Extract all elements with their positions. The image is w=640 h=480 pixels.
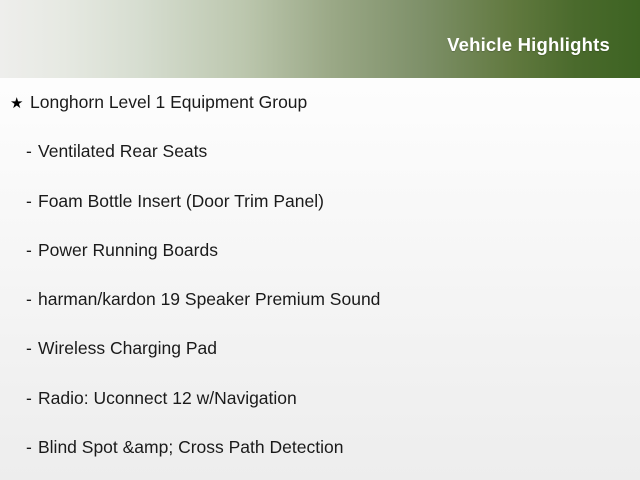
vehicle-highlights-list: ★ Longhorn Level 1 Equipment Group - Ven… — [0, 78, 640, 472]
list-item: - Wireless Charging Pad — [0, 324, 640, 373]
list-item: - Radio: Uconnect 12 w/Navigation — [0, 374, 640, 423]
dash-bullet-icon: - — [26, 275, 38, 324]
dash-bullet-icon: - — [26, 226, 38, 275]
dash-bullet-icon: - — [26, 127, 38, 176]
list-item-label: Radio: Uconnect 12 w/Navigation — [38, 374, 297, 423]
list-item: - Foam Bottle Insert (Door Trim Panel) — [0, 177, 640, 226]
list-item-label: Foam Bottle Insert (Door Trim Panel) — [38, 177, 324, 226]
list-item-label: Ventilated Rear Seats — [38, 127, 207, 176]
list-item: - Blind Spot &amp; Cross Path Detection — [0, 423, 640, 472]
list-item: ★ Longhorn Level 1 Equipment Group — [0, 78, 640, 127]
dash-bullet-icon: - — [26, 374, 38, 423]
star-bullet-icon: ★ — [10, 79, 30, 128]
dash-bullet-icon: - — [26, 177, 38, 226]
dash-bullet-icon: - — [26, 423, 38, 472]
list-item: - harman/kardon 19 Speaker Premium Sound — [0, 275, 640, 324]
list-item-label: harman/kardon 19 Speaker Premium Sound — [38, 275, 380, 324]
page-title: Vehicle Highlights — [447, 22, 640, 56]
list-item-label: Power Running Boards — [38, 226, 218, 275]
dash-bullet-icon: - — [26, 324, 38, 373]
list-item-label: Longhorn Level 1 Equipment Group — [30, 78, 307, 127]
list-item-label: Blind Spot &amp; Cross Path Detection — [38, 423, 343, 472]
slide-root: Vehicle Highlights ★ Longhorn Level 1 Eq… — [0, 0, 640, 480]
list-item: - Ventilated Rear Seats — [0, 127, 640, 176]
list-item: - Power Running Boards — [0, 226, 640, 275]
header-banner: Vehicle Highlights — [0, 0, 640, 78]
list-item-label: Wireless Charging Pad — [38, 324, 217, 373]
